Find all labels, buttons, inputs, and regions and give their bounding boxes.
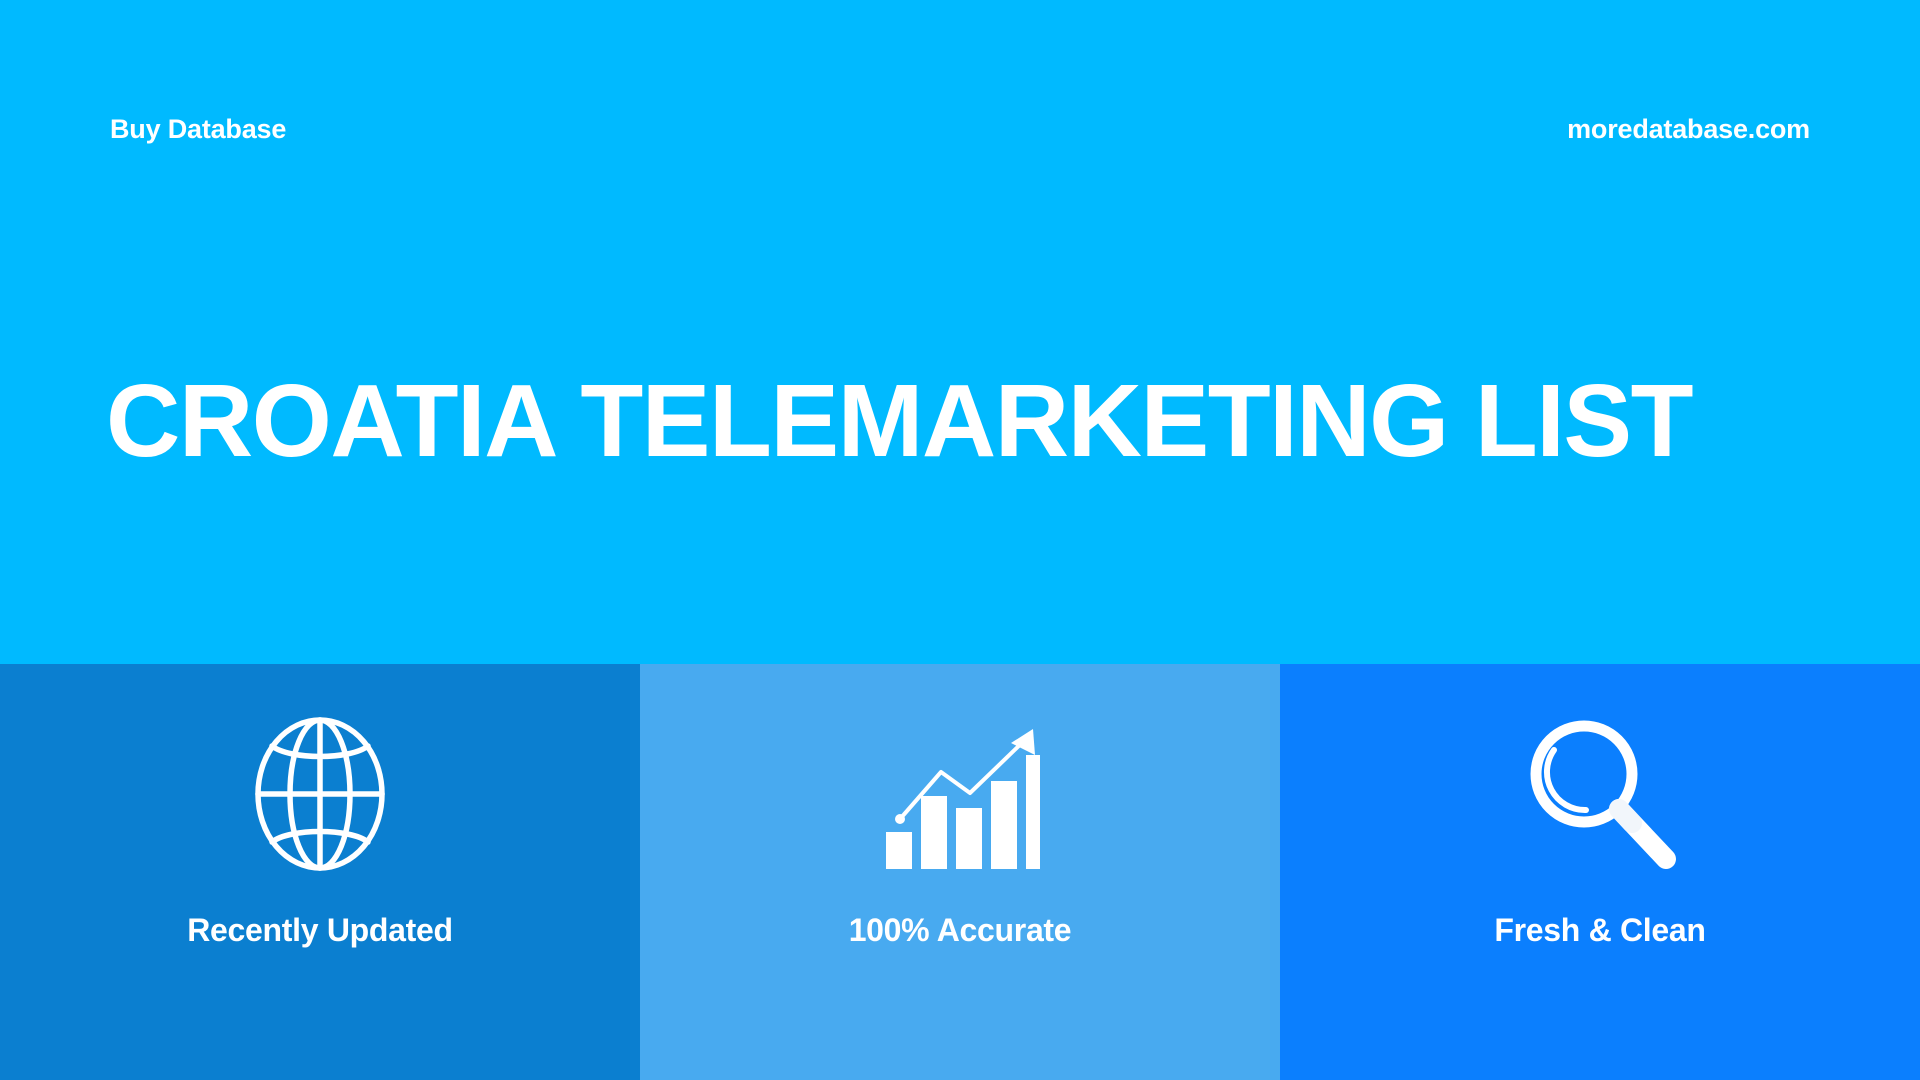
site-url-label: moredatabase.com (1567, 116, 1810, 143)
magnifier-icon (1520, 714, 1680, 874)
promo-banner: Buy Database moredatabase.com CROATIA TE… (0, 0, 1920, 1080)
bar-chart-growth-icon (880, 714, 1040, 874)
hero-section: Buy Database moredatabase.com CROATIA TE… (0, 0, 1920, 664)
feature-label: Recently Updated (187, 914, 452, 946)
feature-card-accurate: 100% Accurate (640, 664, 1280, 1080)
header-bar: Buy Database moredatabase.com (0, 104, 1920, 154)
feature-card-recently-updated: Recently Updated (0, 664, 640, 1080)
globe-icon (240, 714, 400, 874)
brand-label: Buy Database (110, 116, 286, 143)
feature-card-fresh-clean: Fresh & Clean (1280, 664, 1920, 1080)
feature-band: Recently Updated 100% Accu (0, 664, 1920, 1080)
page-title: CROATIA TELEMARKETING LIST (106, 367, 1826, 475)
feature-label: Fresh & Clean (1494, 914, 1705, 946)
feature-label: 100% Accurate (849, 914, 1072, 946)
